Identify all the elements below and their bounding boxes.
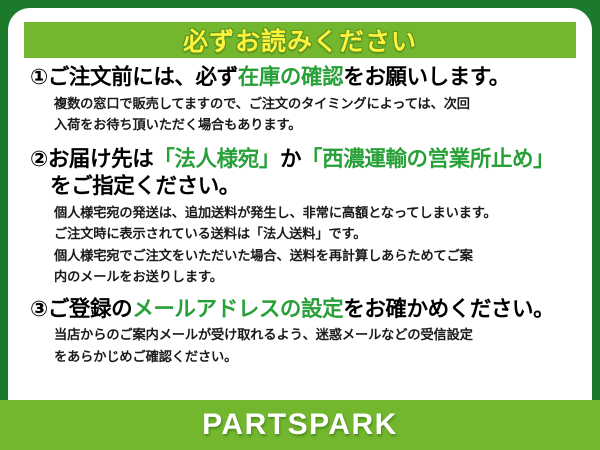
notice-item-2-heading-line2: をご指定ください。 [30, 173, 574, 201]
notice-item-1-highlight: 在庫の確認 [238, 65, 344, 89]
notice-item-3-head-part-3: をお確かめください。 [343, 297, 554, 321]
notice-item-1-head-part-1: ご注文前には、必ず [48, 65, 238, 89]
notice-item-1: ①ご注文前には、必ず在庫の確認をお願いします。 複数の窓口で販売してますので、ご… [30, 64, 574, 135]
notice-item-1-sub-line-1: 複数の窓口で販売してますので、ご注文のタイミングによっては、次回 [30, 94, 574, 114]
notice-item-2-sub-line-1: 個人様宅宛の発送は、追加送料が発生し、非常に高額となってしまいます。 [30, 203, 574, 223]
notice-item-1-marker: ① [30, 65, 48, 89]
notice-item-2-head-part-1: お届け先は [48, 147, 154, 171]
spacer-2 [30, 289, 574, 296]
notice-item-2-highlight-2: 「西濃運輸の営業所止め」 [301, 147, 554, 171]
notice-item-2-heading: ②お届け先は「法人様宛」か「西濃運輸の営業所止め」 [30, 146, 574, 174]
notice-item-3-highlight: メールアドレスの設定 [132, 297, 343, 321]
notice-item-2-head-part-3: か [280, 147, 301, 171]
notice-title: 必ずお読みください [183, 22, 417, 58]
notice-item-3: ③ご登録のメールアドレスの設定をお確かめください。 当店からのご案内メールが受け… [30, 296, 574, 367]
notice-item-3-sub-line-1: 当店からのご案内メールが受け取れるよう、迷惑メールなどの受信設定 [30, 325, 574, 345]
notice-title-bar: 必ずお読みください [24, 22, 576, 58]
notice-item-3-marker: ③ [30, 297, 48, 321]
notice-item-3-heading: ③ご登録のメールアドレスの設定をお確かめください。 [30, 296, 574, 324]
notice-card: 必ずお読みください ①ご注文前には、必ず在庫の確認をお願いします。 複数の窓口で… [8, 8, 592, 450]
brand-logo-text: PARTSPARK [202, 408, 398, 442]
notice-outer-frame: 必ずお読みください ①ご注文前には、必ず在庫の確認をお願いします。 複数の窓口で… [0, 0, 600, 450]
notice-item-2-marker: ② [30, 147, 48, 171]
notice-item-2-highlight-1: 「法人様宛」 [153, 147, 280, 171]
notice-item-2: ②お届け先は「法人様宛」か「西濃運輸の営業所止め」 をご指定ください。 個人様宅… [30, 146, 574, 287]
notice-item-1-head-part-3: をお願いします。 [343, 65, 510, 89]
notice-item-2-sub-line-3: 個人様宅宛でご注文をいただいた場合、送料を再計算しあらためてご案 [30, 246, 574, 266]
notice-body: ①ご注文前には、必ず在庫の確認をお願いします。 複数の窓口で販売してますので、ご… [24, 58, 576, 366]
brand-footer-band: PARTSPARK [0, 400, 600, 450]
notice-item-2-sub-line-4: 内のメールをお送りします。 [30, 267, 574, 287]
spacer-1 [30, 137, 574, 146]
notice-item-1-heading: ①ご注文前には、必ず在庫の確認をお願いします。 [30, 64, 574, 92]
notice-item-2-sub-line-2: ご注文時に表示されている送料は「法人送料」です。 [30, 224, 574, 244]
notice-item-3-head-part-1: ご登録の [48, 297, 132, 321]
notice-item-1-sub-line-2: 入荷をお待ち頂いただく場合もあります。 [30, 115, 574, 135]
notice-item-3-sub-line-2: をあらかじめご確認ください。 [30, 347, 574, 367]
